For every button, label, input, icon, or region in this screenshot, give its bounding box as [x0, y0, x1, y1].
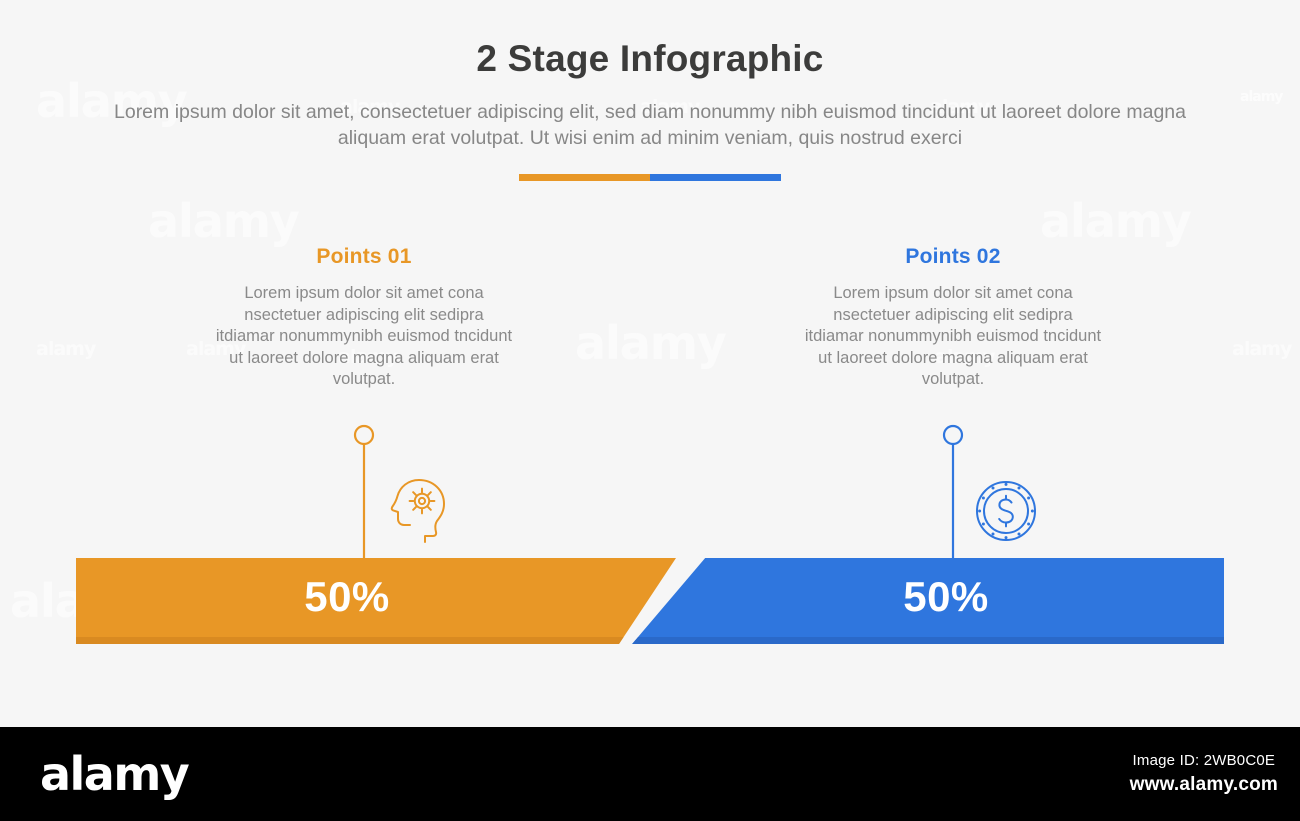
stage-2-percent: 50%	[620, 558, 1224, 636]
stage-1-pin	[346, 424, 382, 566]
head-gear-icon	[389, 476, 453, 549]
divider-segment-orange	[519, 174, 650, 181]
stage-1-bar: 50%	[76, 558, 676, 644]
divider-segment-blue	[650, 174, 781, 181]
stage-1-description: Lorem ipsum dolor sit amet cona nsectetu…	[214, 283, 514, 391]
page-title: 2 Stage Infographic	[0, 38, 1300, 80]
stage-2-bar-edge	[620, 637, 1224, 644]
stage-2-bar: 50%	[620, 558, 1224, 644]
stage-1-percent: 50%	[76, 558, 676, 636]
stage-2-pin	[935, 424, 971, 566]
alamy-footer: alamy Image ID: 2WB0C0E www.alamy.com	[0, 727, 1300, 821]
board: 2 Stage Infographic Lorem ipsum dolor si…	[0, 0, 1300, 725]
alamy-logo: alamy	[40, 747, 188, 801]
dollar-coin-icon	[974, 479, 1038, 548]
stage-1-heading: Points 01	[214, 245, 514, 269]
stage-1-text-block: Points 01 Lorem ipsum dolor sit amet con…	[214, 245, 514, 391]
stage-2-heading: Points 02	[803, 245, 1103, 269]
stage-bars: 50% 50%	[0, 558, 1300, 648]
stage-2-description: Lorem ipsum dolor sit amet cona nsectetu…	[803, 283, 1103, 391]
footer-meta: Image ID: 2WB0C0E www.alamy.com	[1130, 752, 1278, 796]
image-id-label: Image ID: 2WB0C0E	[1130, 752, 1278, 769]
infographic-canvas: alamy alamy alamy alamy alamy alamy alam…	[0, 0, 1300, 821]
stage-1-bar-edge	[76, 637, 676, 644]
page-subtitle: Lorem ipsum dolor sit amet, consectetuer…	[90, 99, 1210, 151]
stage-2-text-block: Points 02 Lorem ipsum dolor sit amet con…	[803, 245, 1103, 391]
divider	[519, 174, 781, 181]
website-label: www.alamy.com	[1130, 774, 1278, 796]
